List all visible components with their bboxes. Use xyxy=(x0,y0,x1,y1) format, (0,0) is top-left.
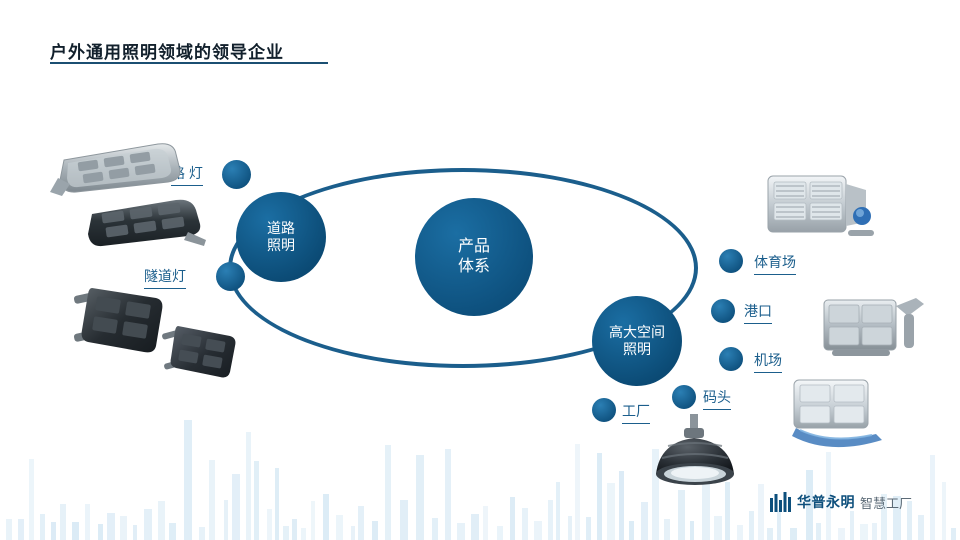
node-dot-wharf[interactable] xyxy=(672,385,696,409)
bar-element xyxy=(483,506,488,540)
brand-logo: 华普永明 智慧工厂 xyxy=(770,492,912,512)
branch-road-line2: 照明 xyxy=(267,237,295,255)
bar-element xyxy=(548,500,553,540)
page-title: 户外通用照明领域的领导企业 xyxy=(50,38,284,63)
bar-element xyxy=(918,515,924,540)
bar-element xyxy=(664,519,670,540)
bar-element xyxy=(568,516,572,540)
bar-element xyxy=(400,500,408,540)
bar-element xyxy=(29,459,34,540)
node-dot-street-lamp[interactable] xyxy=(222,160,251,189)
bar-element xyxy=(158,501,165,540)
bar-element xyxy=(777,510,781,540)
bar-element xyxy=(737,525,743,540)
bar-element xyxy=(372,521,378,540)
branch-node-road-lighting[interactable]: 道路 照明 xyxy=(236,192,326,282)
bar-element xyxy=(432,518,438,540)
node-label-airport[interactable]: 机场 xyxy=(754,350,782,373)
logo-brand-text: 华普永明 xyxy=(797,492,855,512)
bar-element xyxy=(586,517,591,540)
product-image-street-light-2 xyxy=(84,192,209,254)
title-underline xyxy=(50,62,328,64)
bar-element xyxy=(18,519,24,540)
bar-element xyxy=(275,468,279,540)
bar-element xyxy=(301,528,306,540)
bar-element xyxy=(597,453,602,540)
bar-element xyxy=(872,523,877,540)
bar-element xyxy=(40,514,45,540)
bar-element xyxy=(471,514,479,540)
node-label-port[interactable]: 港口 xyxy=(744,301,772,324)
bar-element xyxy=(607,483,615,540)
bar-element xyxy=(790,528,797,540)
bar-element xyxy=(445,449,451,540)
bar-element xyxy=(930,455,935,540)
bar-element xyxy=(144,509,152,540)
bar-element xyxy=(199,527,205,540)
center-node-line2: 体系 xyxy=(458,257,490,277)
bar-element xyxy=(336,515,343,540)
bar-element xyxy=(767,528,773,540)
product-image-street-light-1 xyxy=(50,130,185,200)
bar-element xyxy=(184,420,192,540)
bar-element xyxy=(224,500,228,540)
bar-element xyxy=(534,521,542,540)
node-label-wharf[interactable]: 码头 xyxy=(703,387,731,410)
product-image-high-bay-factory xyxy=(648,412,744,502)
bar-element xyxy=(850,511,854,540)
logo-mark-icon xyxy=(770,492,792,512)
node-dot-port[interactable] xyxy=(711,299,735,323)
node-dot-tunnel-lamp[interactable] xyxy=(216,262,245,291)
bar-element xyxy=(416,455,424,540)
bar-element xyxy=(838,528,845,540)
bar-element xyxy=(556,482,560,540)
bar-element xyxy=(98,524,103,540)
bar-element xyxy=(951,528,956,540)
bar-element xyxy=(292,519,297,540)
product-image-floodlight-port xyxy=(820,288,930,366)
bar-element xyxy=(209,460,215,540)
bar-element xyxy=(510,497,515,540)
bar-element xyxy=(816,523,821,540)
bar-element xyxy=(169,523,176,540)
bar-element xyxy=(232,474,240,540)
bar-element xyxy=(283,526,289,540)
bar-element xyxy=(85,504,90,540)
bar-element xyxy=(860,524,868,540)
node-dot-airport[interactable] xyxy=(719,347,743,371)
bar-element xyxy=(629,521,634,540)
product-image-tunnel-lamp-2 xyxy=(160,318,240,382)
bar-element xyxy=(522,508,528,540)
bar-element xyxy=(619,471,624,540)
bar-element xyxy=(133,525,137,540)
bar-element xyxy=(254,461,259,540)
bar-element xyxy=(120,516,127,540)
node-label-factory[interactable]: 工厂 xyxy=(622,401,650,424)
bar-element xyxy=(758,484,764,540)
bar-element xyxy=(351,526,355,540)
bar-element xyxy=(51,522,56,540)
bar-element xyxy=(575,444,580,540)
bar-element xyxy=(60,504,66,540)
bar-element xyxy=(358,506,364,540)
bar-element xyxy=(457,523,465,540)
node-dot-stadium[interactable] xyxy=(719,249,743,273)
product-image-tunnel-lamp-1 xyxy=(68,276,166,358)
node-dot-factory[interactable] xyxy=(592,398,616,422)
slide-canvas: 户外通用照明领域的领导企业 产品 体系 道路 照明 高大空间 照明 路 灯 隧道… xyxy=(0,0,960,540)
bar-element xyxy=(714,516,722,540)
bar-element xyxy=(690,521,694,540)
bar-element xyxy=(497,526,503,540)
product-image-floodlight-airport xyxy=(778,374,896,452)
branch-node-high-space-lighting[interactable]: 高大空间 照明 xyxy=(592,296,682,386)
branch-high-space-line1: 高大空间 xyxy=(609,324,665,342)
center-node-product-system[interactable]: 产品 体系 xyxy=(415,198,533,316)
bar-element xyxy=(6,519,12,540)
branch-high-space-line2: 照明 xyxy=(609,341,665,359)
bar-element xyxy=(942,482,946,540)
bar-element xyxy=(749,511,754,540)
center-node-line1: 产品 xyxy=(458,237,490,257)
bar-element xyxy=(311,501,315,540)
bar-element xyxy=(72,522,79,540)
branch-road-line1: 道路 xyxy=(267,220,295,238)
bar-element xyxy=(267,509,272,540)
logo-sub-text: 智慧工厂 xyxy=(860,493,912,512)
node-label-stadium[interactable]: 体育场 xyxy=(754,252,796,275)
bar-element xyxy=(385,445,391,540)
bar-element xyxy=(323,494,329,540)
bar-element xyxy=(246,432,251,540)
bar-element xyxy=(107,513,115,540)
product-image-floodlight-stadium xyxy=(762,168,880,250)
bar-element xyxy=(641,502,648,540)
